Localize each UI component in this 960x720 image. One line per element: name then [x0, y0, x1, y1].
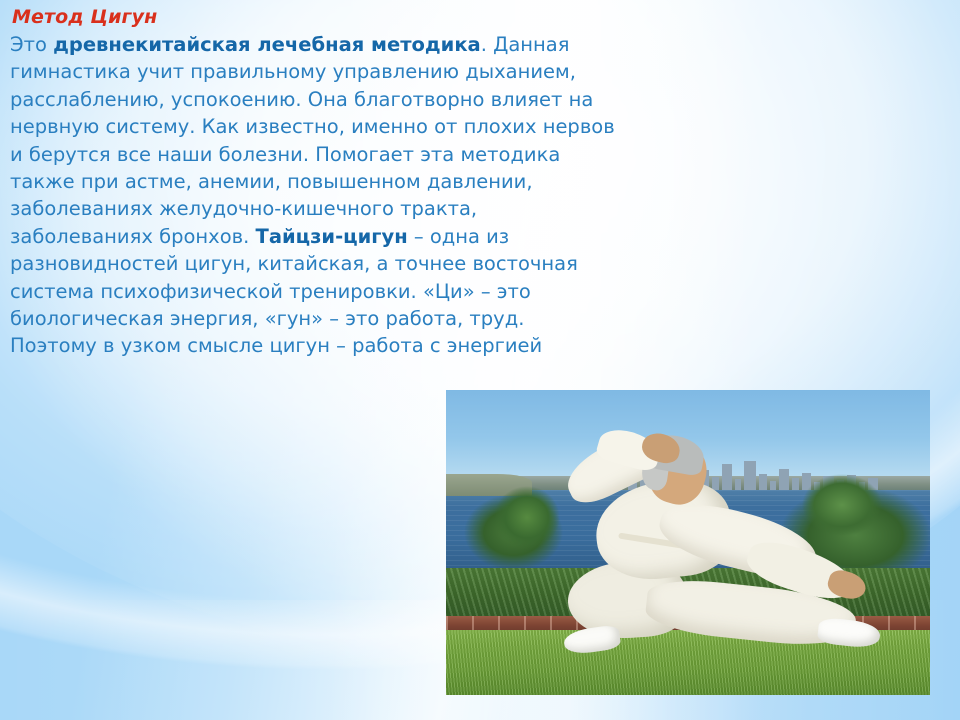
- body-text-emphasis: древнекитайская лечебная методика: [53, 33, 481, 56]
- photo-building: [722, 464, 732, 492]
- body-line: нервную систему. Как известно, именно от…: [10, 113, 710, 140]
- body-text-run: заболеваниях бронхов.: [10, 225, 256, 248]
- body-line: Поэтому в узком смысле цигун – работа с …: [10, 332, 710, 359]
- body-text-run: гимнастика учит правильному управлению д…: [10, 60, 576, 83]
- body-line: заболеваниях бронхов. Тайцзи-цигун – одн…: [10, 223, 710, 250]
- body-line: разновидностей цигун, китайская, а точне…: [10, 250, 710, 277]
- body-text-run: расслаблению, успокоению. Она благотворн…: [10, 88, 593, 111]
- body-text-run: нервную систему. Как известно, именно от…: [10, 115, 615, 138]
- body-text-run: и берутся все наши болезни. Помогает эта…: [10, 143, 560, 166]
- body-line: гимнастика учит правильному управлению д…: [10, 58, 710, 85]
- photo-building: [744, 461, 756, 492]
- body-text-run: . Данная: [481, 33, 570, 56]
- body-text-run: система психофизической тренировки. «Ци»…: [10, 280, 531, 303]
- body-line: и берутся все наши болезни. Помогает эта…: [10, 141, 710, 168]
- body-text-run: Поэтому в узком смысле цигун – работа с …: [10, 334, 542, 357]
- photo-tree-right-2: [802, 474, 882, 536]
- body-line: биологическая энергия, «гун» – это работ…: [10, 305, 710, 332]
- body-text-run: биологическая энергия, «гун» – это работ…: [10, 307, 524, 330]
- qigong-photo: [446, 390, 930, 695]
- body-text-run: – одна из: [408, 225, 510, 248]
- body-text-run: также при астме, анемии, повышенном давл…: [10, 170, 533, 193]
- body-text-run: Это: [10, 33, 53, 56]
- body-text-emphasis: Тайцзи-цигун: [256, 225, 408, 248]
- page-title: Метод Цигун: [12, 4, 710, 30]
- body-line: расслаблению, успокоению. Она благотворн…: [10, 86, 710, 113]
- body-text-run: разновидностей цигун, китайская, а точне…: [10, 252, 578, 275]
- content-text-block: Метод Цигун Это древнекитайская лечебная…: [10, 4, 710, 360]
- photo-tree-left-2: [494, 486, 560, 556]
- slide-canvas: Метод Цигун Это древнекитайская лечебная…: [0, 0, 960, 720]
- body-line: заболеваниях желудочно-кишечного тракта,: [10, 195, 710, 222]
- body-line: система психофизической тренировки. «Ци»…: [10, 278, 710, 305]
- body-line: также при астме, анемии, повышенном давл…: [10, 168, 710, 195]
- body-text-run: заболеваниях желудочно-кишечного тракта,: [10, 197, 477, 220]
- body-paragraph: Это древнекитайская лечебная методика. Д…: [10, 31, 710, 360]
- body-line: Это древнекитайская лечебная методика. Д…: [10, 31, 710, 58]
